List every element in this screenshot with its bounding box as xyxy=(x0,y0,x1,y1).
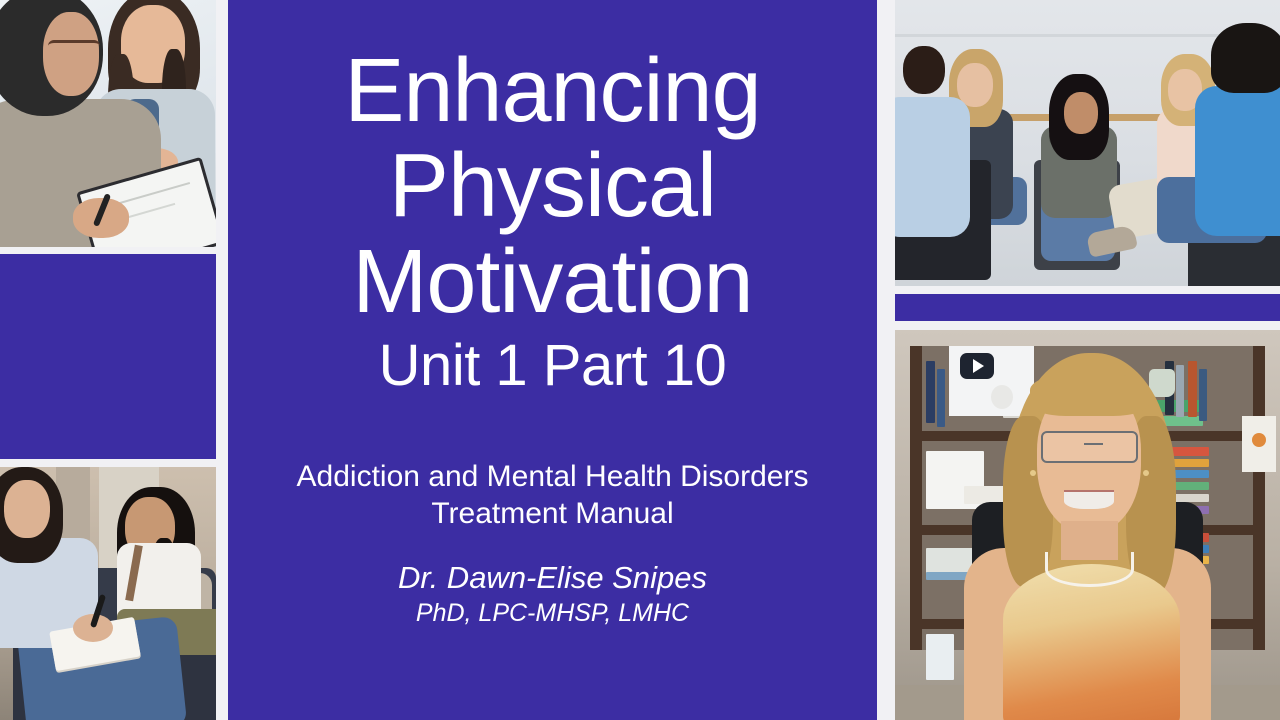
book xyxy=(926,634,954,680)
wall-poster xyxy=(1242,416,1276,472)
presenter-credentials: PhD, LPC-MHSP, LMHC xyxy=(246,598,859,628)
book xyxy=(926,361,935,423)
counseling-session-photo xyxy=(0,467,216,720)
play-triangle-icon xyxy=(973,359,984,373)
eyeglasses-icon xyxy=(48,40,100,52)
purple-accent-block xyxy=(0,254,216,459)
left-image-column xyxy=(0,0,216,720)
title-panel: Enhancing Physical Motivation Unit 1 Par… xyxy=(228,0,877,720)
unit-subtitle: Unit 1 Part 10 xyxy=(246,334,859,399)
counselor-head xyxy=(4,480,50,538)
course-title: Addiction and Mental Health Disorders Tr… xyxy=(246,459,859,532)
presenter-smile xyxy=(1064,490,1114,510)
book xyxy=(1176,365,1184,417)
therapy-session-photo xyxy=(0,0,216,247)
foreground-participant-right-shirt xyxy=(1195,86,1280,236)
play-icon xyxy=(960,353,994,379)
presenter-blouse xyxy=(1003,564,1180,720)
presenter-name: Dr. Dawn-Elise Snipes xyxy=(246,560,859,596)
presenter-webcam-photo xyxy=(895,330,1280,720)
desk-lamp xyxy=(991,385,1013,409)
foreground-participant-left-top xyxy=(895,97,970,237)
foreground-participant-right-hair xyxy=(1211,23,1280,93)
title-slide: Enhancing Physical Motivation Unit 1 Par… xyxy=(0,0,1280,720)
page-title: Enhancing Physical Motivation xyxy=(246,44,859,330)
subtitle-block: Addiction and Mental Health Disorders Tr… xyxy=(246,459,859,628)
group-therapy-photo xyxy=(895,0,1280,286)
book xyxy=(1199,369,1207,421)
presenter-bangs xyxy=(1030,373,1149,416)
title-block: Enhancing Physical Motivation Unit 1 Par… xyxy=(246,44,859,399)
therapist-face xyxy=(43,12,99,96)
eyeglasses-icon xyxy=(1041,431,1137,462)
participant-center-face xyxy=(1064,92,1098,134)
purple-divider-block xyxy=(895,294,1280,321)
book xyxy=(1188,361,1197,417)
bookshelf-side xyxy=(910,346,922,650)
eyeglasses-bridge xyxy=(1084,443,1103,445)
foreground-participant-left-hair xyxy=(903,46,945,94)
poster-graphic xyxy=(1252,433,1266,447)
book xyxy=(937,369,945,427)
right-image-column xyxy=(895,0,1280,720)
bookshelf-side xyxy=(1253,346,1265,650)
